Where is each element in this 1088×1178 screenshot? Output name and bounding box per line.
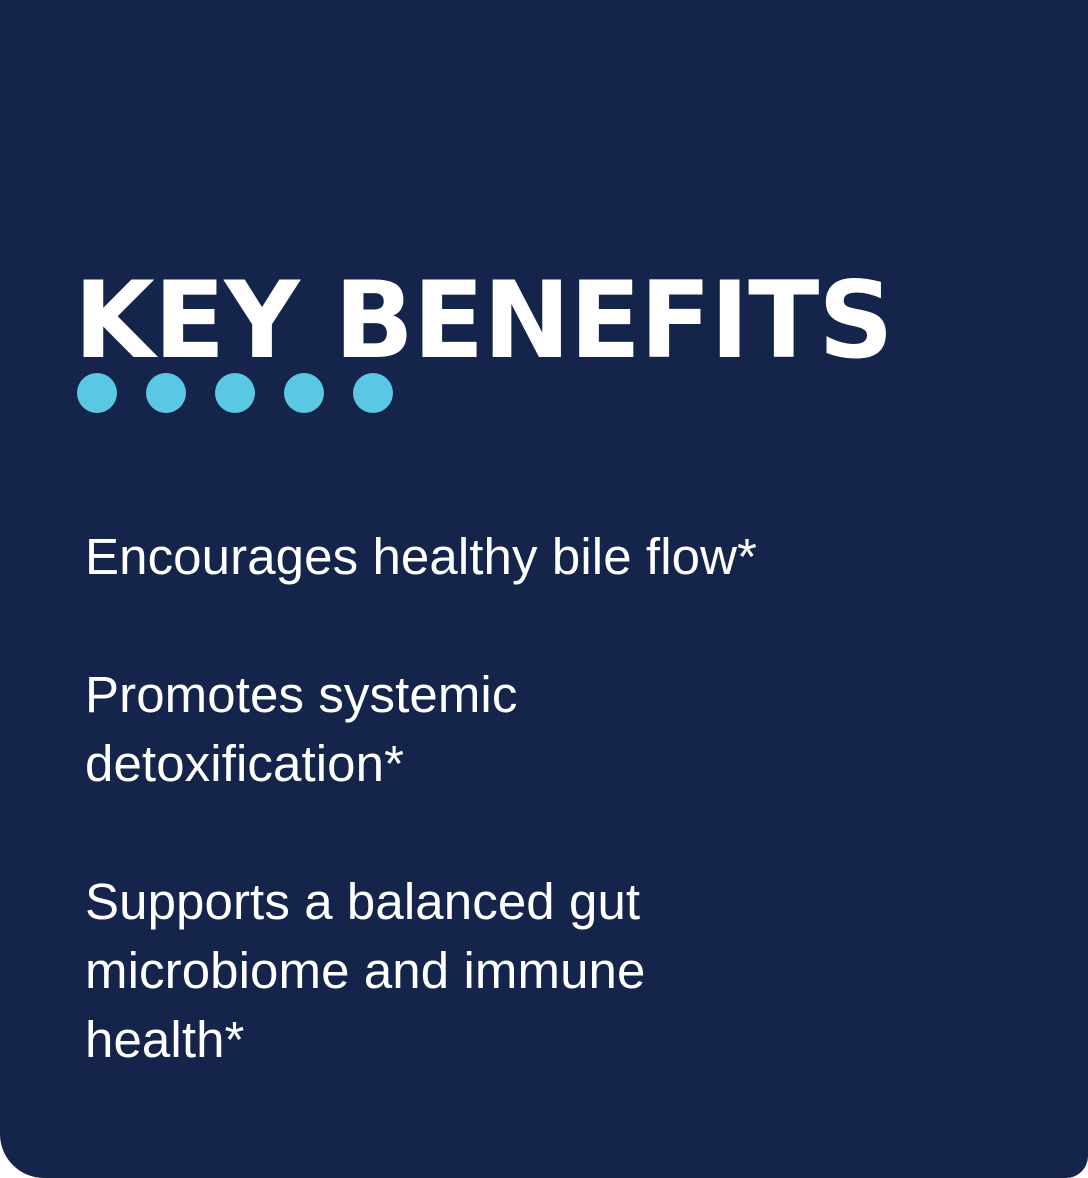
- benefit-line: microbiome and immune: [85, 936, 985, 1005]
- divider-dot-4: [284, 373, 324, 413]
- benefit-line: detoxification*: [85, 729, 985, 798]
- benefits-list: Encourages healthy bile flow* Promotes s…: [85, 522, 1025, 1074]
- list-item: Supports a balanced gut microbiome and i…: [85, 867, 985, 1074]
- divider-dot-2: [146, 373, 186, 413]
- divider-dot-3: [215, 373, 255, 413]
- benefit-line: Promotes systemic: [85, 660, 985, 729]
- benefit-line: health*: [85, 1005, 985, 1074]
- list-item: Encourages healthy bile flow*: [85, 522, 985, 591]
- dot-divider: [77, 373, 393, 413]
- benefit-line: Supports a balanced gut: [85, 867, 985, 936]
- divider-dot-5: [353, 373, 393, 413]
- benefit-line: Encourages healthy bile flow*: [85, 522, 985, 591]
- key-benefits-card: KEY BENEFITS Encourages healthy bile flo…: [0, 0, 1088, 1178]
- list-item: Promotes systemic detoxification*: [85, 660, 985, 798]
- page-title: KEY BENEFITS: [74, 268, 1020, 374]
- divider-dot-1: [77, 373, 117, 413]
